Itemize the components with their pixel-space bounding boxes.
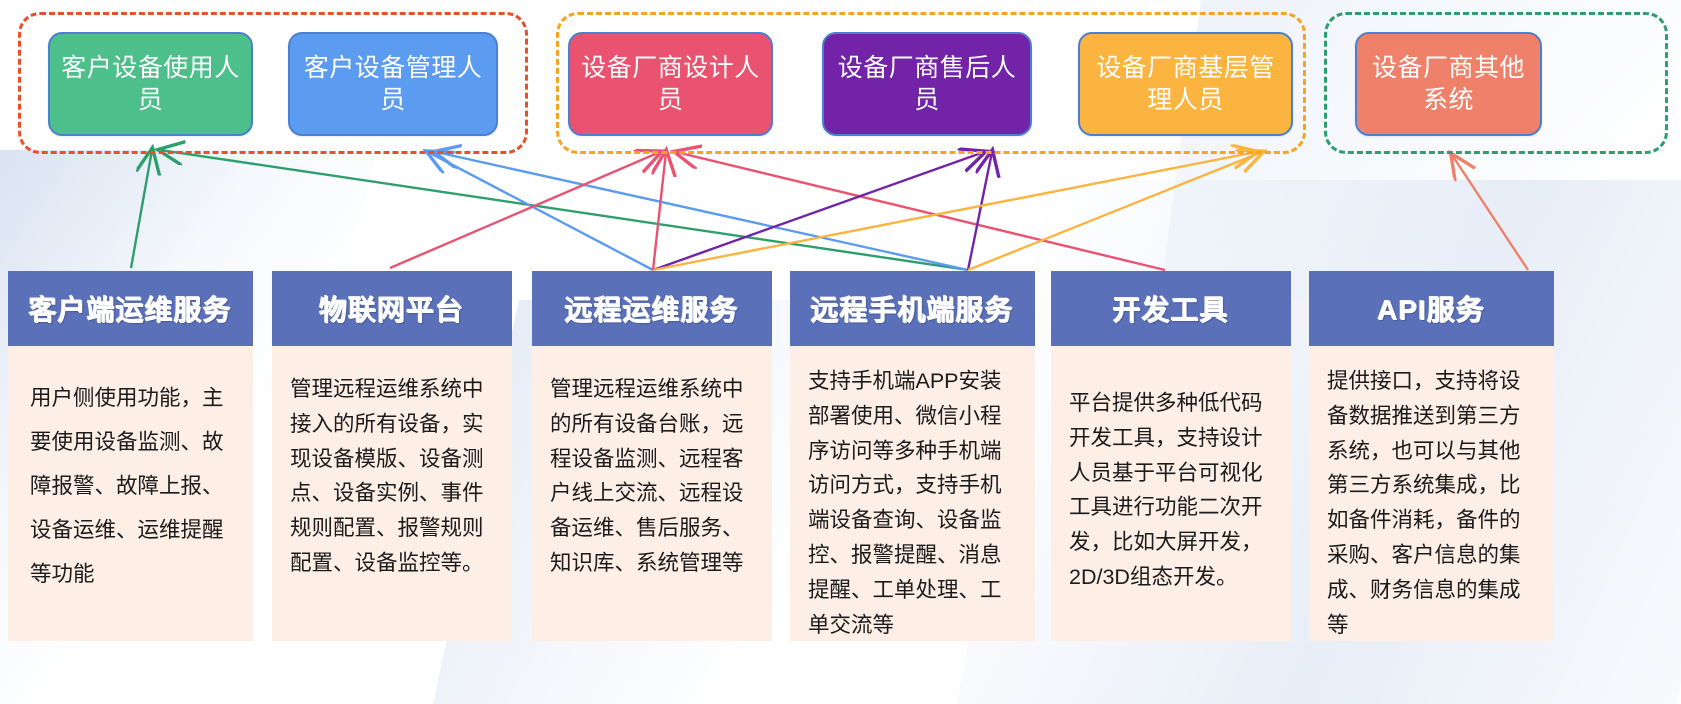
actor-label: 设备厂商基层管理人员: [1090, 52, 1281, 116]
service-title: 开发工具: [1051, 271, 1291, 346]
service-description: 管理远程运维系统中的所有设备台账，远程设备监测、远程客户线上交流、远程设备运维、…: [532, 346, 772, 595]
actor-label: 设备厂商售后人员: [834, 52, 1020, 116]
actor-customer-device-manager[interactable]: 客户设备管理人员: [288, 32, 498, 136]
service-title: 远程运维服务: [532, 271, 772, 346]
service-title: 客户端运维服务: [8, 271, 253, 346]
service-api[interactable]: API服务 提供接口，支持将设备数据推送到第三方系统，也可以与其他第三方系统集成…: [1309, 271, 1554, 641]
service-description: 平台提供多种低代码开发工具，支持设计人员基于平台可视化工具进行功能二次开发，比如…: [1051, 346, 1291, 609]
service-iot-platform[interactable]: 物联网平台 管理远程运维系统中接入的所有设备，实现设备模版、设备测点、设备实例、…: [272, 271, 512, 641]
link-purple: [653, 152, 992, 270]
service-title: 物联网平台: [272, 271, 512, 346]
service-title: API服务: [1309, 271, 1554, 346]
link-salmon: [1452, 155, 1528, 270]
service-title: 远程手机端服务: [790, 271, 1035, 346]
actor-label: 设备厂商其他系统: [1367, 52, 1530, 116]
actor-manufacturer-frontline-manager[interactable]: 设备厂商基层管理人员: [1078, 32, 1293, 136]
diagram-canvas: 客户设备使用人员 客户设备管理人员 设备厂商设计人员 设备厂商售后人员 设备厂商…: [0, 0, 1681, 704]
service-remote-om[interactable]: 远程运维服务 管理远程运维系统中的所有设备台账，远程设备监测、远程客户线上交流、…: [532, 271, 772, 641]
actor-manufacturer-other-system[interactable]: 设备厂商其他系统: [1355, 32, 1542, 136]
actor-label: 设备厂商设计人员: [580, 52, 761, 116]
service-description: 用户侧使用功能，主要使用设备监测、故障报警、故障上报、设备运维、运维提醒等功能: [8, 346, 253, 610]
link-orange: [653, 152, 1262, 270]
service-dev-tools[interactable]: 开发工具 平台提供多种低代码开发工具，支持设计人员基于平台可视化工具进行功能二次…: [1051, 271, 1291, 641]
service-remote-mobile[interactable]: 远程手机端服务 支持手机端APP安装部署使用、微信小程序访问等多种手机端访问方式…: [790, 271, 1035, 641]
service-description: 管理远程运维系统中接入的所有设备，实现设备模版、设备测点、设备实例、事件规则配置…: [272, 346, 512, 595]
link-green: [131, 150, 968, 270]
actor-label: 客户设备使用人员: [60, 52, 241, 116]
actor-manufacturer-aftersales[interactable]: 设备厂商售后人员: [822, 32, 1032, 136]
service-description: 提供接口，支持将设备数据推送到第三方系统，也可以与其他第三方系统集成，比如备件消…: [1309, 346, 1554, 657]
actor-label: 客户设备管理人员: [300, 52, 486, 116]
actor-manufacturer-designer[interactable]: 设备厂商设计人员: [568, 32, 773, 136]
link-pink: [390, 152, 1165, 270]
service-description: 支持手机端APP安装部署使用、微信小程序访问等多种手机端访问方式，支持手机端设备…: [790, 346, 1035, 657]
actor-customer-device-user[interactable]: 客户设备使用人员: [48, 32, 253, 136]
service-client-om[interactable]: 客户端运维服务 用户侧使用功能，主要使用设备监测、故障报警、故障上报、设备运维、…: [8, 271, 253, 641]
link-blue: [428, 152, 968, 270]
